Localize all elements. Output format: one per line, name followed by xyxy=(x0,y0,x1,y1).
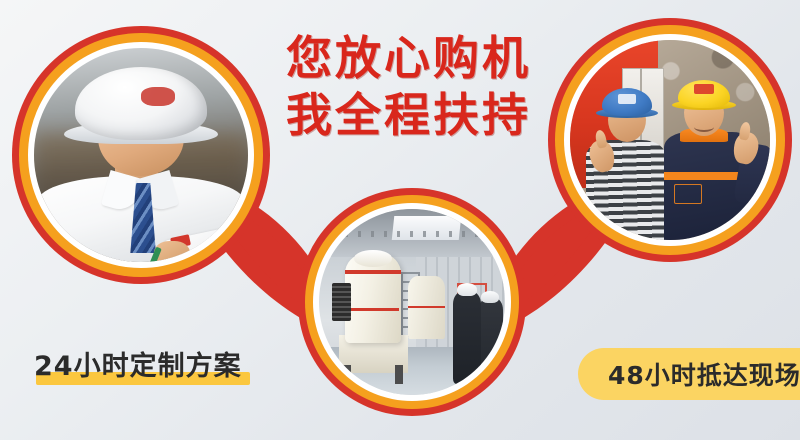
workers-photo xyxy=(570,40,770,240)
promo-banner: 您放心购机 我全程扶持 24小时定制方案 48小时抵达现场 xyxy=(0,0,800,440)
label-custom-plan: 24小时定制方案 xyxy=(34,344,242,383)
headline-line-1: 您放心购机 xyxy=(286,34,531,83)
factory-photo xyxy=(319,209,505,395)
medallion-workers xyxy=(548,18,792,262)
label-onsite-arrival-text: 48小时抵达现场 xyxy=(608,356,800,392)
engineer-photo xyxy=(34,48,248,262)
headline-line-2: 我全程扶持 xyxy=(286,91,531,140)
headline: 您放心购机 我全程扶持 xyxy=(286,34,531,140)
label-custom-plan-text: 24小时定制方案 xyxy=(34,344,242,383)
label-onsite-arrival: 48小时抵达现场 xyxy=(578,348,800,400)
medallion-engineer xyxy=(12,26,270,284)
inspector-hardhat-1 xyxy=(457,283,477,296)
helmet-logo xyxy=(141,87,175,106)
inspector-hardhat-2 xyxy=(481,291,500,303)
medallion-factory xyxy=(298,188,526,416)
